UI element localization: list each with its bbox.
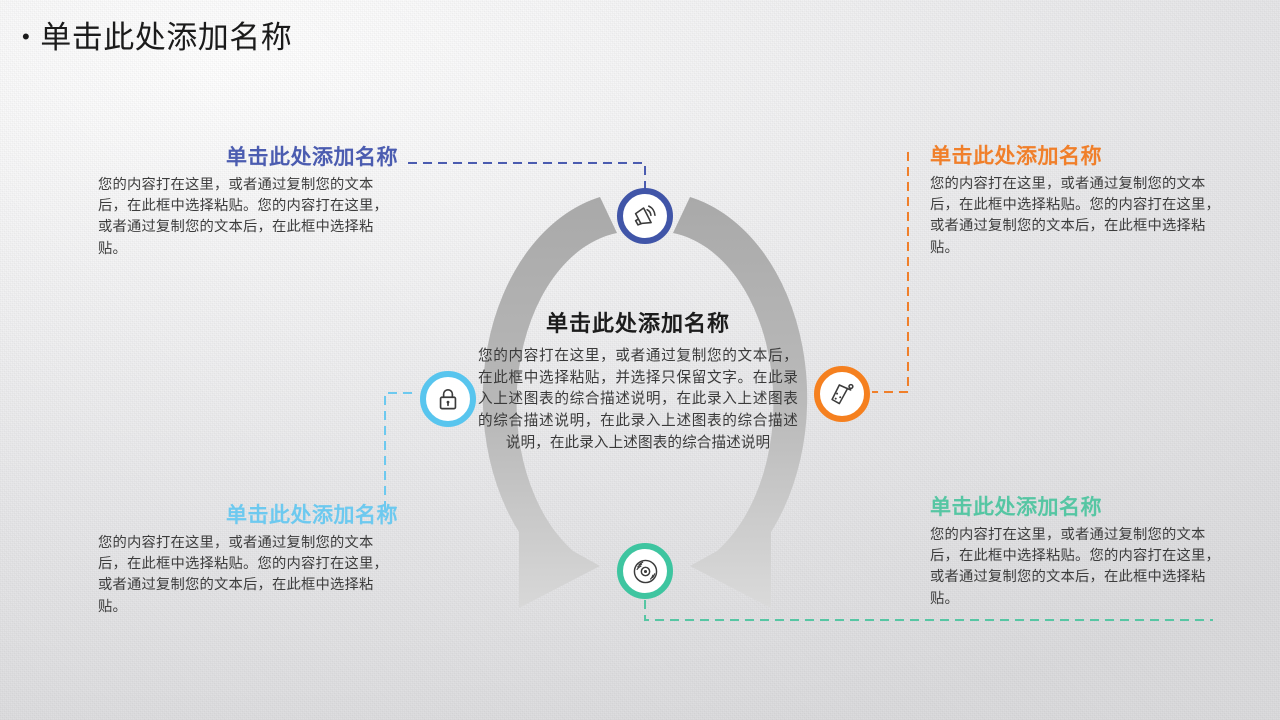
lock-icon [434,385,462,413]
block-body-bottom-right: 您的内容打在这里，或者通过复制您的文本后，在此框中选择粘贴。您的内容打在这里，或… [930,525,1230,610]
center-heading: 单击此处添加名称 [478,306,798,338]
node-disc[interactable] [617,543,673,599]
flask-icon [828,380,857,409]
block-body-bottom-left: 您的内容打在这里，或者通过复制您的文本后，在此框中选择粘贴。您的内容打在这里，或… [98,533,398,618]
block-heading-top-left: 单击此处添加名称 [98,146,398,169]
node-flask[interactable] [814,366,870,422]
center-body: 您的内容打在这里，或者通过复制您的文本后，在此框中选择粘贴，并选择只保留文字。在… [478,346,798,455]
megaphone-icon [630,201,660,231]
node-megaphone[interactable] [617,188,673,244]
connector-top-right [872,152,908,392]
text-block-bottom-left[interactable]: 单击此处添加名称 您的内容打在这里，或者通过复制您的文本后，在此框中选择粘贴。您… [98,504,398,618]
disc-icon [631,557,660,586]
connector-bottom-left [385,393,412,517]
center-text-block[interactable]: 单击此处添加名称 您的内容打在这里，或者通过复制您的文本后，在此框中选择粘贴，并… [478,306,798,455]
block-heading-bottom-left: 单击此处添加名称 [98,504,398,527]
slide-canvas: • 单击此处添加名称 [0,0,1280,720]
text-block-top-right[interactable]: 单击此处添加名称 您的内容打在这里，或者通过复制您的文本后，在此框中选择粘贴。您… [930,145,1230,259]
block-body-top-left: 您的内容打在这里，或者通过复制您的文本后，在此框中选择粘贴。您的内容打在这里，或… [98,175,398,260]
block-heading-bottom-right: 单击此处添加名称 [930,496,1230,519]
block-body-top-right: 您的内容打在这里，或者通过复制您的文本后，在此框中选择粘贴。您的内容打在这里，或… [930,174,1230,259]
node-lock[interactable] [420,371,476,427]
text-block-top-left[interactable]: 单击此处添加名称 您的内容打在这里，或者通过复制您的文本后，在此框中选择粘贴。您… [98,146,398,260]
block-heading-top-right: 单击此处添加名称 [930,145,1230,168]
text-block-bottom-right[interactable]: 单击此处添加名称 您的内容打在这里，或者通过复制您的文本后，在此框中选择粘贴。您… [930,496,1230,610]
connector-top-left [408,163,645,190]
